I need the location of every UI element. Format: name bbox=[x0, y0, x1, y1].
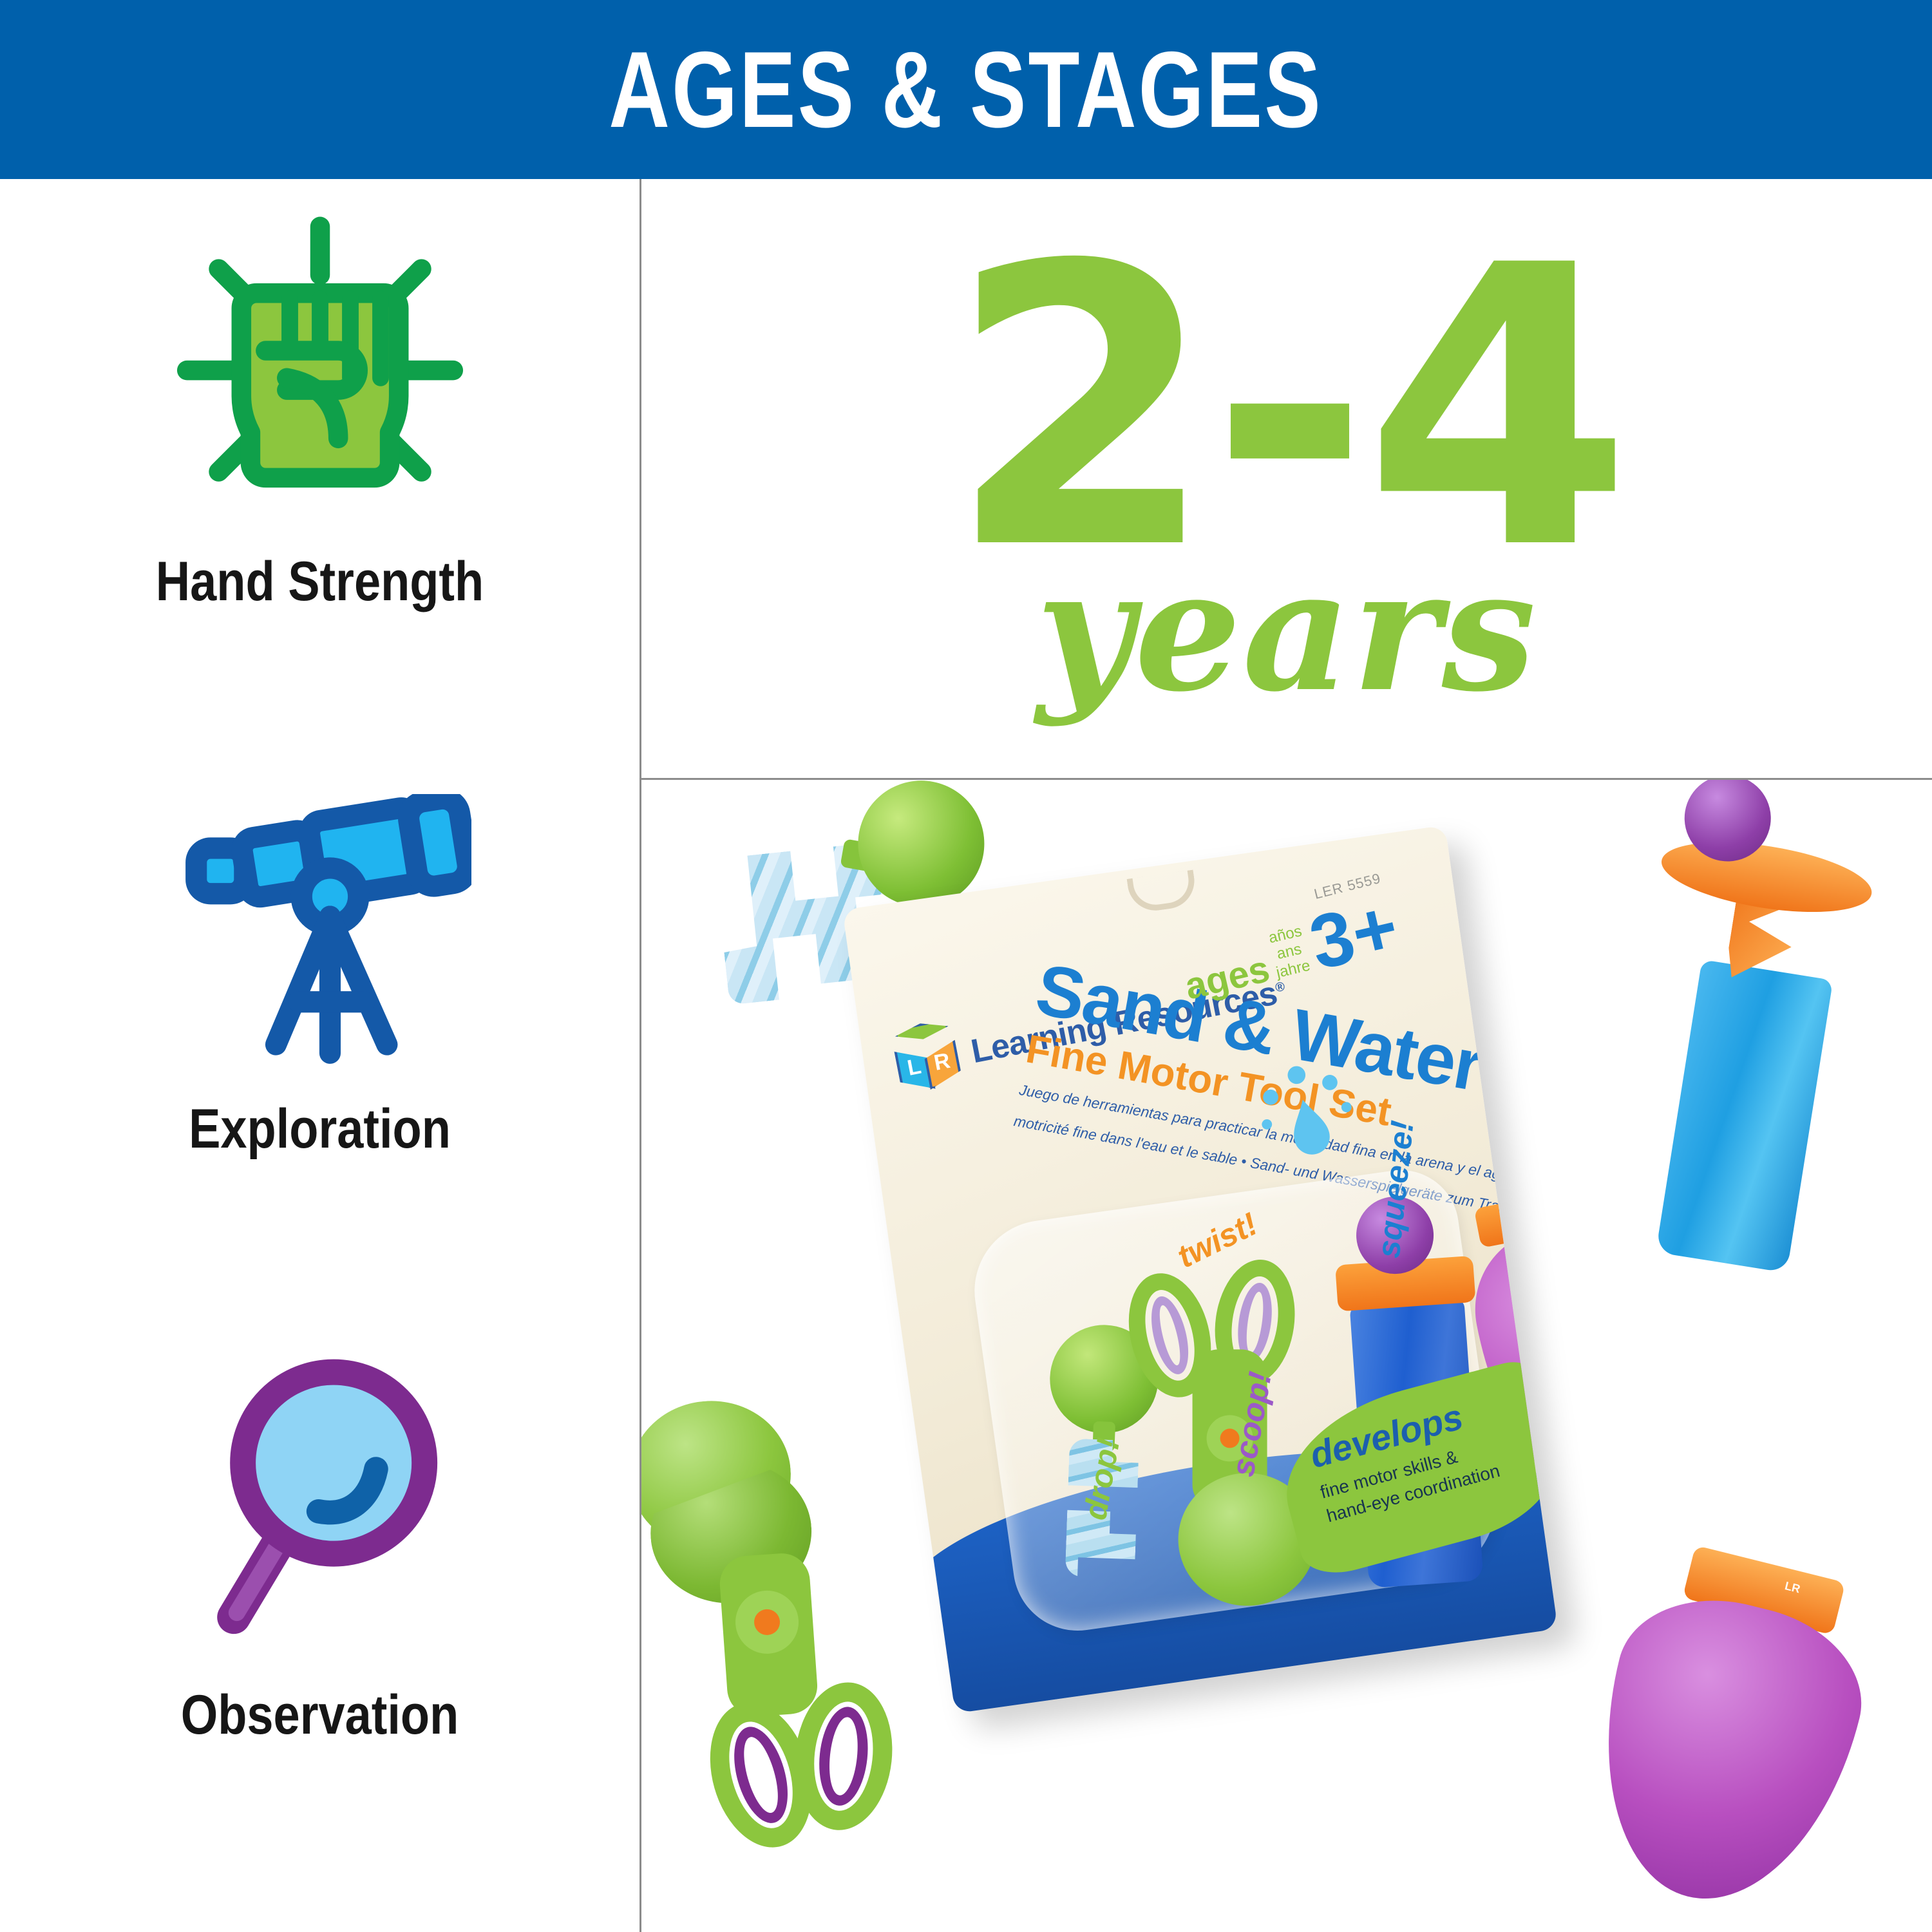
feature-exploration: Exploration bbox=[0, 778, 639, 1161]
infographic-sheet: AGES & STAGES bbox=[0, 0, 1932, 1932]
product-package: LER 5559 L R Learning Resources® Sand & … bbox=[842, 825, 1558, 1713]
feature-label: Exploration bbox=[45, 1097, 595, 1161]
squeeze-bulb-body bbox=[1567, 1578, 1879, 1926]
product-photo: LR LER 5559 L R Learning Resources® bbox=[641, 780, 1932, 1932]
ages-badge: ages años ans jahre 3+ bbox=[1175, 894, 1403, 1006]
fist-strength-icon bbox=[0, 198, 639, 533]
package-hang-hole bbox=[1127, 869, 1198, 914]
header-banner: AGES & STAGES bbox=[0, 0, 1932, 179]
twist-tube-body bbox=[1656, 960, 1833, 1273]
magnifying-glass-icon bbox=[0, 1332, 639, 1667]
logo-cube-icon: L R bbox=[885, 1017, 971, 1106]
toy-squeeze-bulb-loose: LR bbox=[1554, 1531, 1900, 1932]
feature-label: Observation bbox=[45, 1683, 595, 1747]
ages-number: 3+ bbox=[1305, 894, 1404, 976]
feature-column: Hand Strength bbox=[0, 179, 639, 1932]
product-image-panel: LR LER 5559 L R Learning Resources® bbox=[641, 780, 1932, 1932]
feature-observation: Observation bbox=[0, 1332, 639, 1747]
telescope-icon bbox=[0, 778, 639, 1081]
page-title: AGES & STAGES bbox=[609, 35, 1323, 144]
toy-twist-tube-loose bbox=[1598, 780, 1918, 1301]
age-range-value: 2-4 bbox=[947, 251, 1626, 567]
feature-hand-strength: Hand Strength bbox=[0, 198, 639, 614]
brand-mini-mark: LR bbox=[1783, 1580, 1801, 1595]
age-unit-label: years bbox=[1036, 556, 1537, 706]
feature-label: Hand Strength bbox=[45, 550, 595, 614]
age-panel: 2-4 years bbox=[641, 179, 1932, 778]
ages-translations: años ans jahre bbox=[1266, 922, 1312, 986]
